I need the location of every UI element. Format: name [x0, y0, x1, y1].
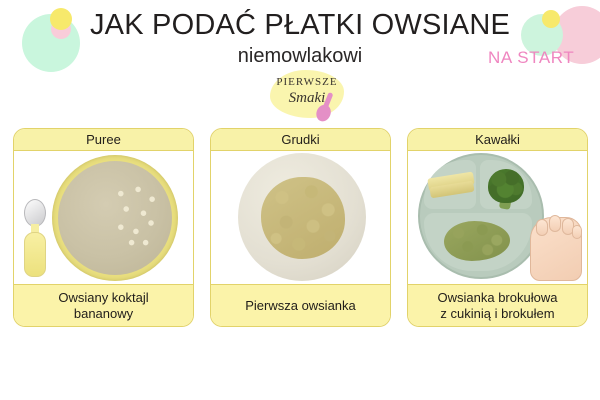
card-kawalki[interactable]: Kawałki Owsianka brokułowa z cukinią i b… [407, 128, 588, 327]
card-caption: Owsianka brokułowa z cukinią i brokułem [408, 284, 587, 326]
card-caption-line: z cukinią i brokułem [440, 306, 554, 322]
card-header-label: Puree [14, 129, 193, 151]
brand-name-primary: PIERWSZE [252, 76, 362, 88]
card-header-label: Grudki [211, 129, 390, 151]
card-caption-line: Owsiany koktajl [58, 290, 148, 306]
card-caption-line: Owsianka brokułowa [438, 290, 558, 306]
card-photo-divided-plate [408, 151, 587, 284]
card-row: Puree Owsiany koktajl bananowy Grudki Pi… [13, 128, 590, 327]
page-title: JAK PODAĆ PŁATKI OWSIANE [0, 9, 600, 42]
brand-name-secondary: Smaki [252, 90, 362, 107]
card-photo-oatmeal-plate [211, 151, 390, 284]
card-puree[interactable]: Puree Owsiany koktajl bananowy [13, 128, 194, 327]
baby-spoon-icon [20, 199, 50, 277]
baby-fist-icon [528, 209, 584, 283]
card-header-label: Kawałki [408, 129, 587, 151]
card-caption: Pierwsza owsianka [211, 284, 390, 326]
header: JAK PODAĆ PŁATKI OWSIANE niemowlakowi NA… [0, 0, 600, 126]
card-caption: Owsiany koktajl bananowy [14, 284, 193, 326]
brand-logo: PIERWSZE Smaki [252, 70, 362, 122]
card-caption-line: bananowy [74, 306, 133, 322]
card-photo-smoothie-bowl [14, 151, 193, 284]
broccoli-floret [488, 169, 524, 203]
status-badge: NA START [488, 48, 574, 68]
card-caption-line: Pierwsza owsianka [245, 298, 356, 314]
card-grudki[interactable]: Grudki Pierwsza owsianka [210, 128, 391, 327]
lumpy-oatmeal [261, 177, 345, 259]
